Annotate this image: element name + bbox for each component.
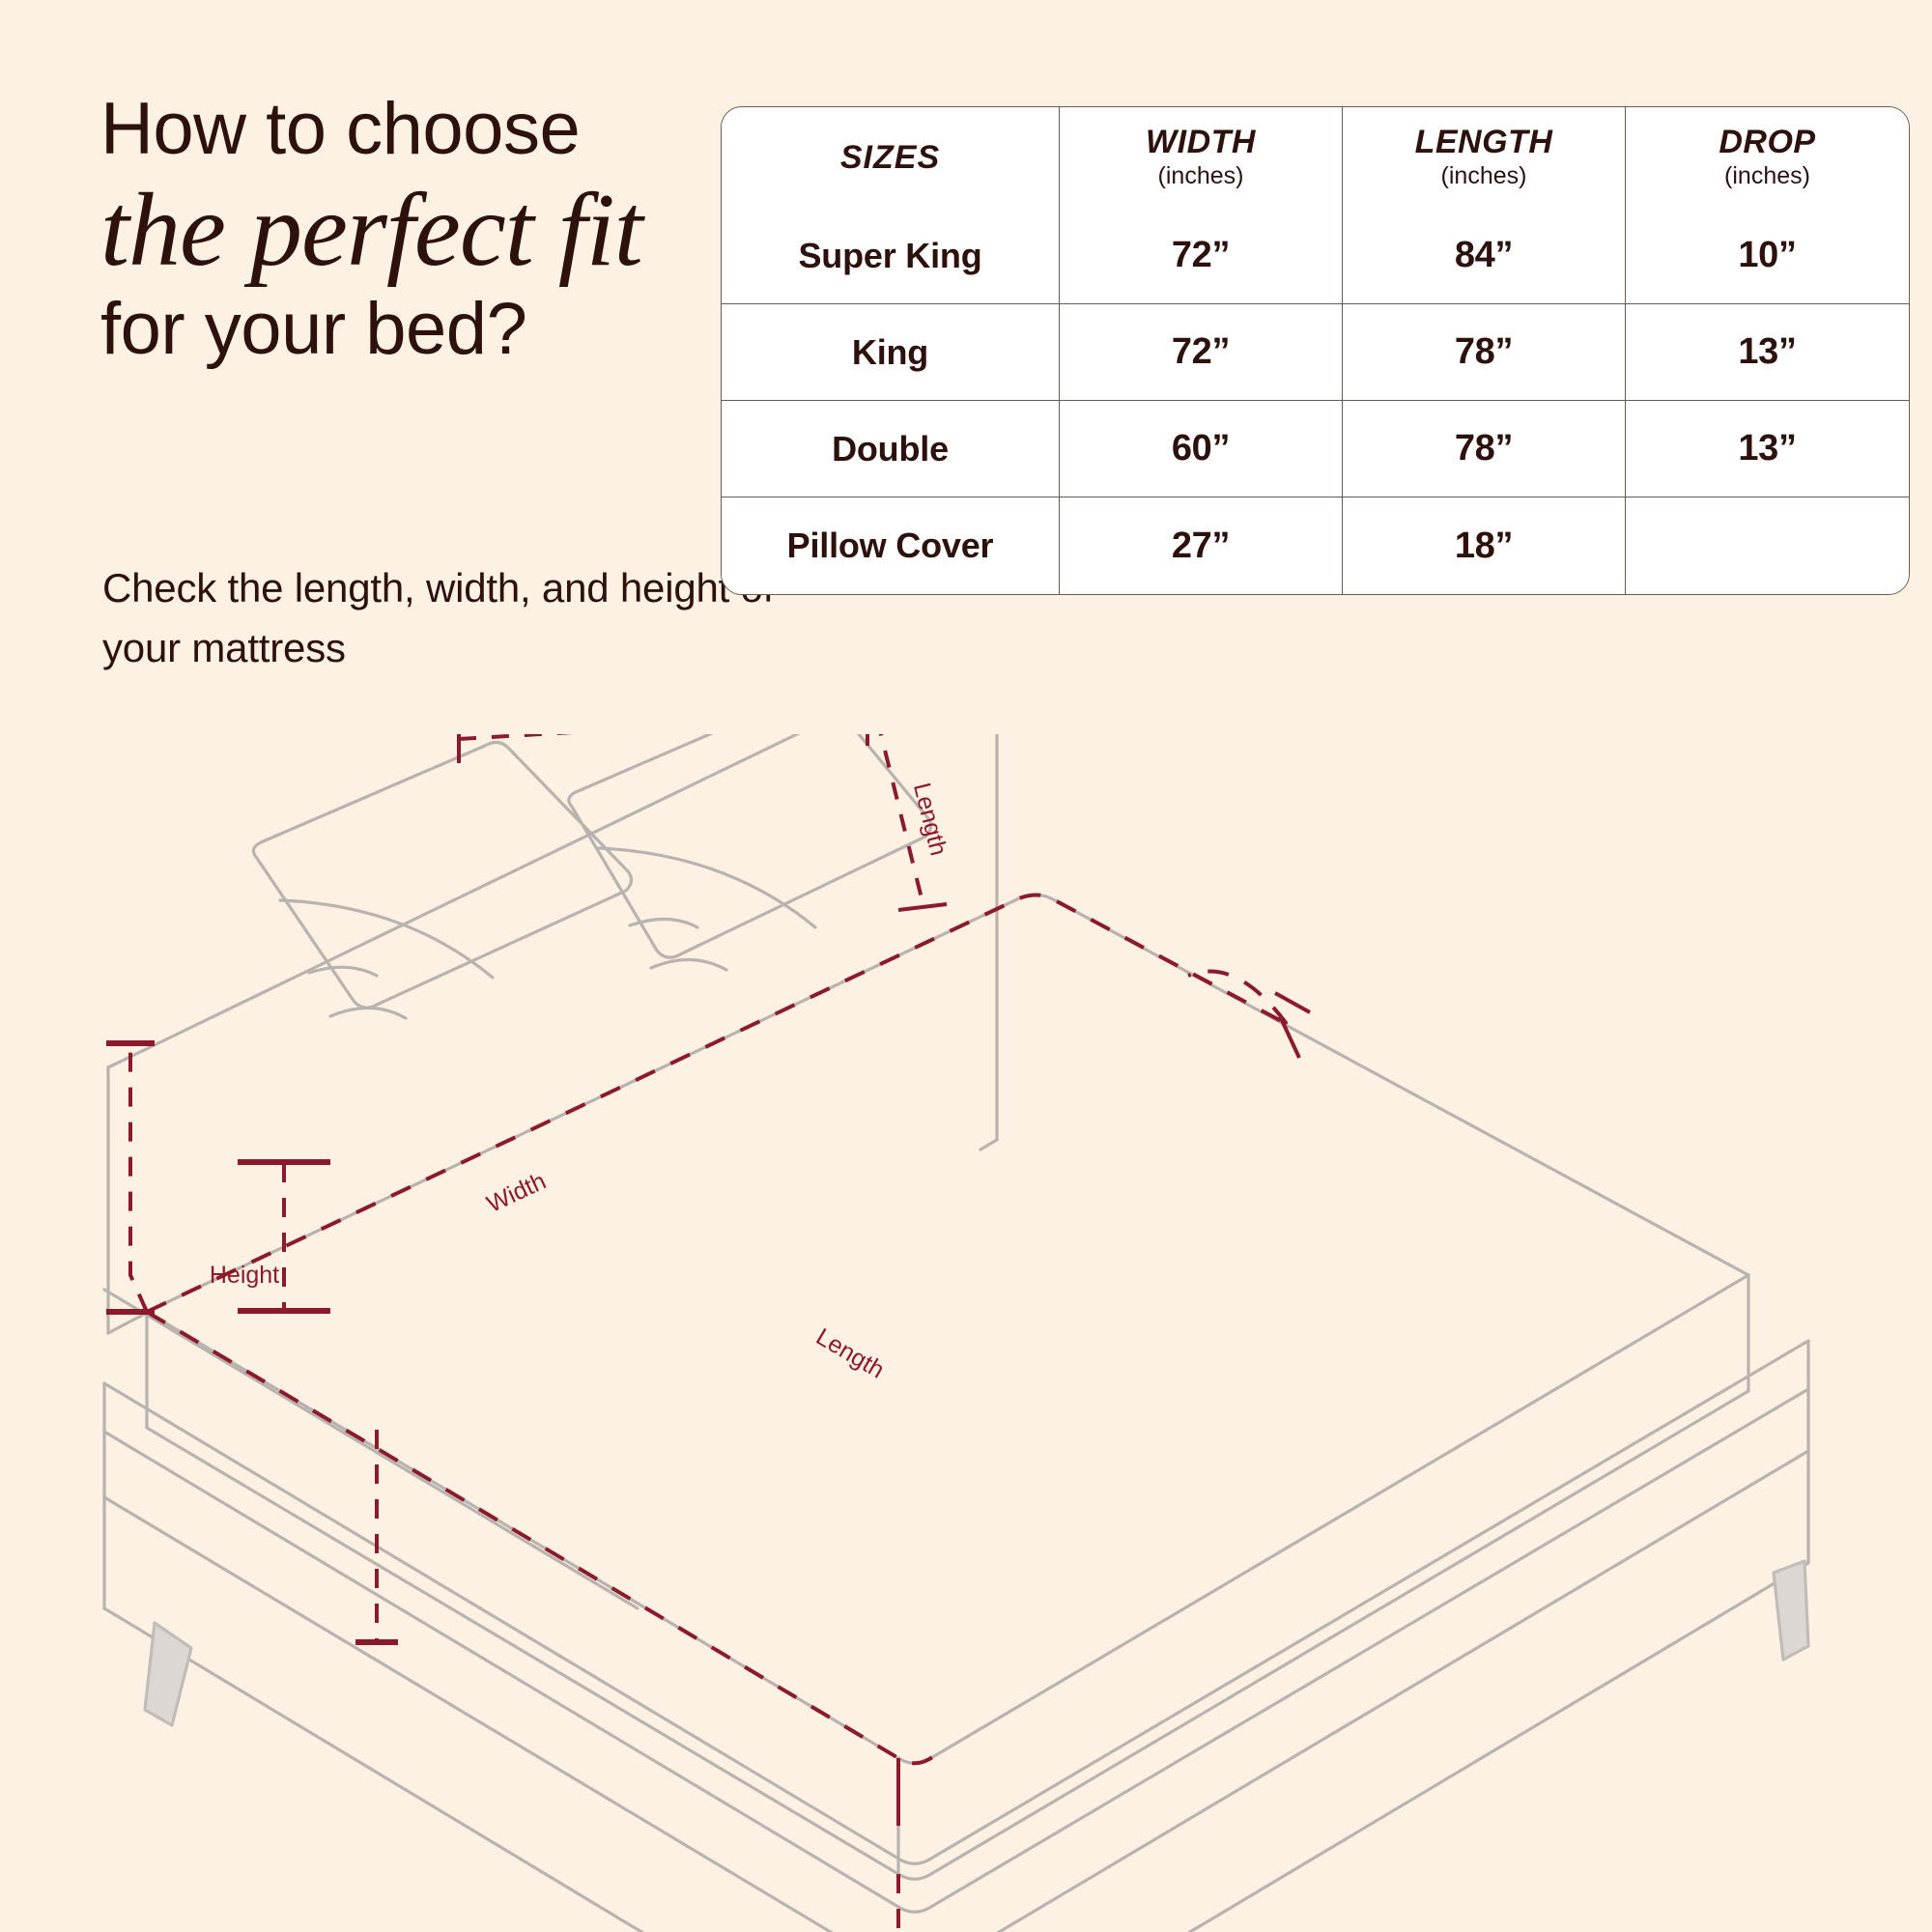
table-header-row: SIZES WIDTH (inches) LENGTH (inches) DRO… xyxy=(722,107,1909,208)
cell-double-width: 60” xyxy=(1060,401,1343,497)
mattress-width-line xyxy=(147,895,1287,1312)
row-label-double: Double xyxy=(722,401,1060,497)
table-row: Super King 72” 84” 10” xyxy=(722,208,1909,304)
table-row: Double 60” 78” 13” xyxy=(722,401,1909,497)
cell-king-drop: 13” xyxy=(1626,304,1909,401)
row-label-super-king: Super King xyxy=(722,208,1060,304)
drop-indicator-left xyxy=(130,1041,147,1312)
table-row: King 72” 78” 13” xyxy=(722,304,1909,401)
column-header-length-unit: (inches) xyxy=(1343,162,1625,191)
cell-super-king-drop: 10” xyxy=(1626,208,1909,304)
column-header-drop-unit: (inches) xyxy=(1626,162,1909,191)
bed-legs xyxy=(145,1561,1808,1932)
column-header-sizes: SIZES xyxy=(722,107,1060,208)
mattress-width-cap xyxy=(1280,1016,1299,1058)
cell-pillow-cover-width: 27” xyxy=(1060,497,1343,594)
column-header-width-main: WIDTH xyxy=(1060,125,1342,160)
label-mattress-width: Width xyxy=(483,1168,551,1218)
cell-king-width: 72” xyxy=(1060,304,1343,401)
label-mattress-length: Length xyxy=(811,1323,889,1384)
pillow-width-line xyxy=(459,734,867,739)
column-header-sizes-main: SIZES xyxy=(722,140,1059,176)
subcopy-text: Check the length, width, and height of y… xyxy=(102,558,779,678)
bed-base-outline xyxy=(104,1341,1808,1932)
size-chart-table-container: SIZES WIDTH (inches) LENGTH (inches) DRO… xyxy=(721,106,1909,595)
cell-super-king-width: 72” xyxy=(1060,208,1343,304)
cell-pillow-cover-drop xyxy=(1626,497,1909,594)
cell-pillow-cover-length: 18” xyxy=(1343,497,1626,594)
table-row: Pillow Cover 27” 18” xyxy=(722,497,1909,594)
label-pillow-length: Length xyxy=(908,781,952,859)
cell-double-drop: 13” xyxy=(1626,401,1909,497)
cell-king-length: 78” xyxy=(1343,304,1626,401)
column-header-width: WIDTH (inches) xyxy=(1060,107,1343,208)
row-label-pillow-cover: Pillow Cover xyxy=(722,497,1060,594)
pillows-outline xyxy=(253,734,930,1018)
column-header-drop-main: DROP xyxy=(1626,125,1909,160)
column-header-drop: DROP (inches) xyxy=(1626,107,1909,208)
dimension-labels: Width Length Width Height Length xyxy=(210,734,952,1384)
right-corner-cap xyxy=(1275,993,1310,1012)
dimension-lines xyxy=(106,734,1310,1932)
cell-super-king-length: 84” xyxy=(1343,208,1626,304)
row-label-king: King xyxy=(722,304,1060,401)
column-header-length-main: LENGTH xyxy=(1343,125,1625,160)
size-chart-table: SIZES WIDTH (inches) LENGTH (inches) DRO… xyxy=(721,106,1910,595)
bed-diagram: Width Length Width Height Length xyxy=(0,734,1932,1932)
cell-double-length: 78” xyxy=(1343,401,1626,497)
pillow-length-cap-bottom xyxy=(898,904,947,910)
column-header-length: LENGTH (inches) xyxy=(1343,107,1626,208)
mattress-outline xyxy=(147,895,1748,1879)
label-mattress-height: Height xyxy=(210,1262,279,1289)
column-header-width-unit: (inches) xyxy=(1060,162,1342,191)
